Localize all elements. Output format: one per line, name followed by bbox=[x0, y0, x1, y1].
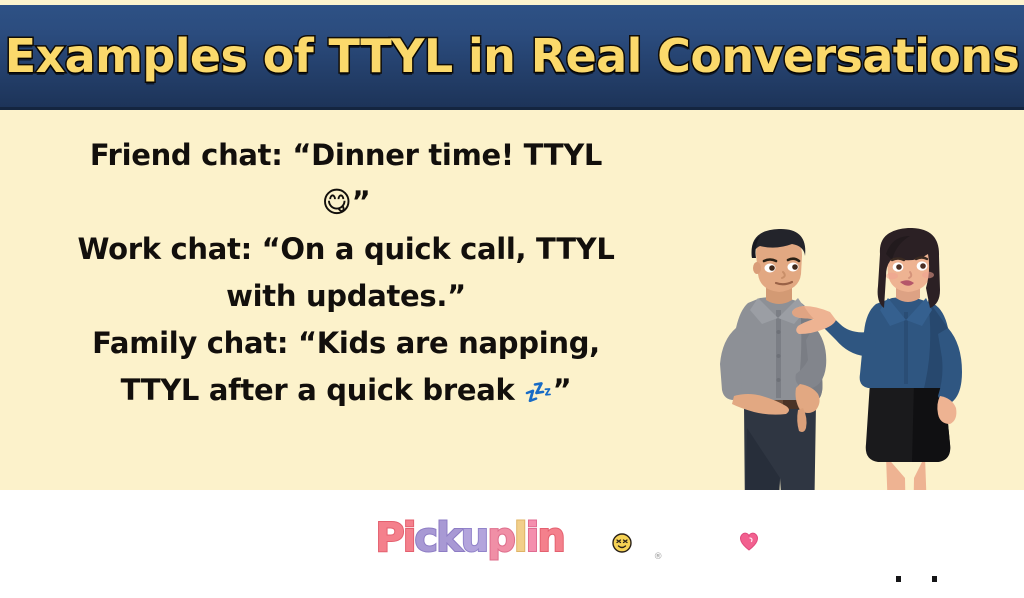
heart-icon bbox=[738, 515, 772, 561]
poster-root: Examples of TTYL in Real Conversations F… bbox=[0, 0, 1024, 576]
logo-letter-u: u bbox=[461, 515, 487, 561]
header-banner: Examples of TTYL in Real Conversations bbox=[0, 5, 1024, 110]
logo-letter-p2: p bbox=[487, 515, 514, 561]
logo-letter-p1: P bbox=[375, 515, 402, 561]
sleeping-symbol-icon: 💤 bbox=[524, 380, 552, 406]
example-line-work-1: Work chat: “On a quick call, TTYL bbox=[10, 226, 682, 273]
face-savoring-food-icon: 😋 bbox=[322, 185, 352, 219]
example-line-family-2-text: TTYL after a quick break bbox=[121, 373, 515, 407]
page-title: Examples of TTYL in Real Conversations bbox=[5, 29, 1020, 83]
closing-quote-1: ” bbox=[352, 185, 371, 219]
logo-letter-n: n bbox=[537, 515, 563, 561]
logo-letter-l: l bbox=[514, 515, 526, 561]
example-line-friend-1: Friend chat: “Dinner time! TTYL bbox=[10, 132, 682, 179]
closing-quote-2: ” bbox=[553, 373, 572, 407]
content-area: Friend chat: “Dinner time! TTYL 😋” Work … bbox=[0, 110, 1024, 490]
footer-bar: Pickuplin ® bbox=[0, 490, 1024, 576]
examples-text-block: Friend chat: “Dinner time! TTYL 😋” Work … bbox=[10, 132, 682, 417]
logo-letter-i1: i bbox=[403, 515, 415, 561]
pickuplin-logo[interactable]: Pickuplin ® bbox=[375, 508, 648, 558]
registered-trademark: ® bbox=[654, 552, 661, 562]
logo-letter-i2: i bbox=[526, 515, 538, 561]
logo-letter-c: c bbox=[414, 515, 436, 561]
example-line-family-1: Family chat: “Kids are napping, bbox=[10, 320, 682, 367]
logo-letter-k: k bbox=[436, 515, 461, 561]
winking-face-icon bbox=[612, 517, 644, 563]
example-line-friend-2: 😋” bbox=[10, 179, 682, 226]
example-line-family-2: TTYL after a quick break 💤” bbox=[10, 367, 682, 417]
example-line-work-2: with updates.” bbox=[10, 273, 682, 320]
